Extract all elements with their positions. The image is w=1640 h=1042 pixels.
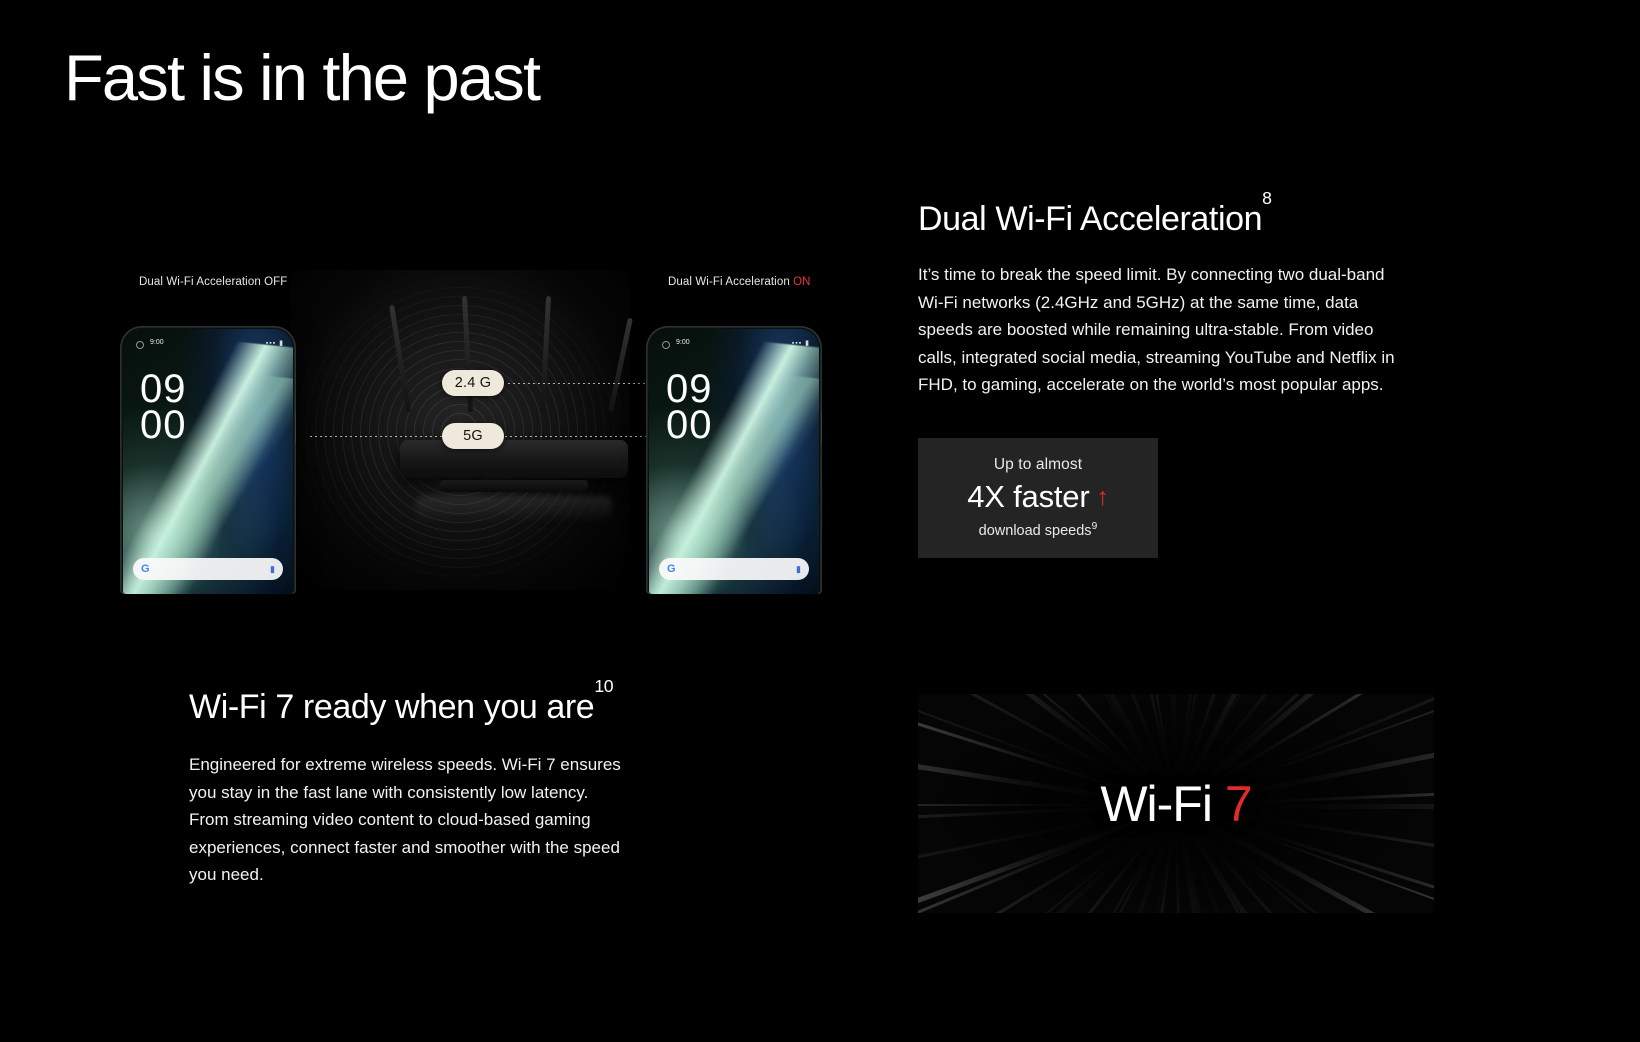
phone-left-status-time: 9:00	[150, 339, 164, 346]
wifi7-tunnel-image: Wi-Fi 7	[918, 694, 1434, 913]
google-logo-icon: G	[141, 564, 150, 575]
wifi7-section: Wi-Fi 7 ready when you are10 Engineered …	[189, 688, 849, 889]
wifi7-image-label: Wi-Fi 7	[918, 775, 1434, 833]
phone-right: 9:00 ▪▪▪ ▮ 09 00 G ▮	[646, 326, 822, 594]
band-pill-24g: 2.4 G	[442, 370, 504, 396]
phone-left-clock-minute: 00	[140, 407, 187, 443]
phone-left: 9:00 ▪▪▪ ▮ 09 00 G ▮	[120, 326, 296, 594]
speed-card-sub-text: download speeds	[979, 523, 1092, 539]
wifi7-image-label-number: 7	[1225, 776, 1252, 832]
phone-right-side-button	[821, 410, 822, 444]
wifi7-image-label-prefix: Wi-Fi	[1100, 776, 1225, 832]
dual-wifi-heading: Dual Wi-Fi Acceleration8	[918, 200, 1618, 239]
dual-wifi-illustration: Dual Wi-Fi Acceleration OFF Dual Wi-Fi A…	[60, 250, 860, 595]
dual-wifi-section: Dual Wi-Fi Acceleration8 It’s time to br…	[918, 200, 1618, 558]
phone-right-screen: 9:00 ▪▪▪ ▮ 09 00 G ▮	[649, 329, 819, 594]
phone-left-status-icons: ▪▪▪ ▮	[266, 339, 284, 347]
wifi7-heading-footnote: 10	[594, 676, 613, 696]
phone-left-camera-icon	[136, 341, 144, 349]
router-base	[440, 480, 588, 492]
router-reflection	[416, 496, 612, 534]
label-acceleration-on: Dual Wi-Fi Acceleration ON	[668, 276, 811, 288]
wifi7-body: Engineered for extreme wireless speeds. …	[189, 751, 629, 889]
arrow-up-icon: ↑	[1096, 485, 1108, 510]
label-acceleration-on-word: ON	[793, 276, 810, 288]
page-title: Fast is in the past	[64, 44, 539, 112]
speed-card-value: 4X faster	[967, 479, 1089, 515]
phone-right-search-bar: G ▮	[659, 558, 809, 580]
dual-wifi-body: It’s time to break the speed limit. By c…	[918, 261, 1414, 399]
phone-right-camera-icon	[662, 341, 670, 349]
phone-right-clock: 09 00	[666, 371, 713, 443]
microphone-icon: ▮	[796, 564, 801, 575]
label-acceleration-on-prefix: Dual Wi-Fi Acceleration	[668, 276, 793, 288]
label-acceleration-off: Dual Wi-Fi Acceleration OFF	[139, 276, 287, 288]
wifi7-heading-text: Wi-Fi 7 ready when you are	[189, 688, 594, 726]
speed-card-sub-label: download speeds9	[979, 521, 1098, 539]
band-pill-5g: 5G	[442, 423, 504, 449]
microphone-icon: ▮	[270, 564, 275, 575]
phone-left-search-bar: G ▮	[133, 558, 283, 580]
speed-card-top-label: Up to almost	[994, 456, 1082, 474]
router-body	[400, 440, 628, 478]
dual-wifi-heading-text: Dual Wi-Fi Acceleration	[918, 200, 1262, 238]
phone-left-side-button	[295, 410, 296, 444]
phone-left-screen: 9:00 ▪▪▪ ▮ 09 00 G ▮	[123, 329, 293, 594]
phone-left-clock-hour: 09	[140, 371, 187, 407]
phone-right-status-time: 9:00	[676, 339, 690, 346]
wifi7-heading: Wi-Fi 7 ready when you are10	[189, 688, 849, 727]
speed-card-sub-footnote: 9	[1092, 521, 1098, 532]
phone-right-clock-hour: 09	[666, 371, 713, 407]
speed-card-main: 4X faster ↑	[967, 479, 1109, 515]
dual-wifi-heading-footnote: 8	[1262, 188, 1271, 208]
phone-right-clock-minute: 00	[666, 407, 713, 443]
phone-left-clock: 09 00	[140, 371, 187, 443]
phone-right-status-icons: ▪▪▪ ▮	[792, 339, 810, 347]
google-logo-icon: G	[667, 564, 676, 575]
speed-stat-card: Up to almost 4X faster ↑ download speeds…	[918, 438, 1158, 558]
